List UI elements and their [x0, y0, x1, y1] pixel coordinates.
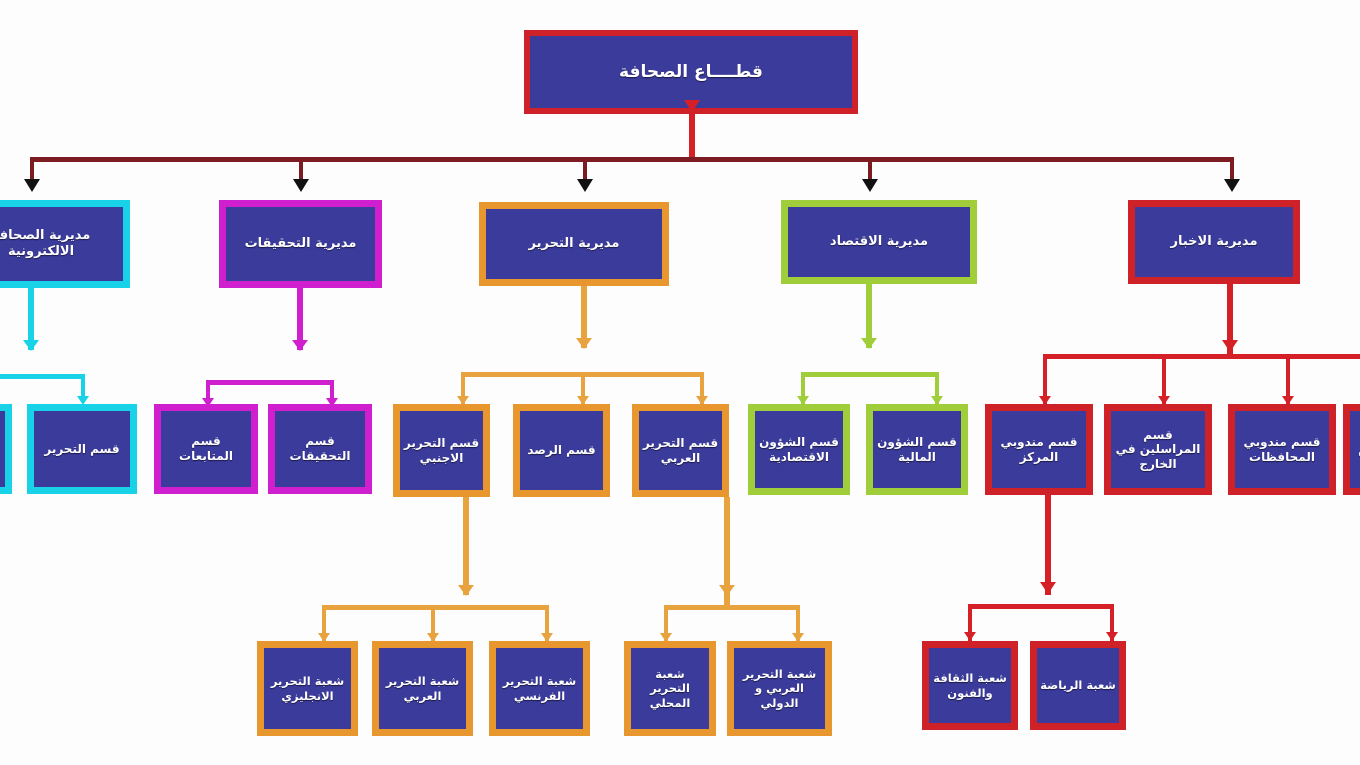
- connector-main-bus: [30, 157, 1234, 162]
- arrowhead-investigations: [293, 179, 309, 192]
- arrowhead-arabic-editing-stem: [719, 585, 735, 596]
- node-directorate-investigations[interactable]: مديرية التحقيقات: [219, 200, 382, 288]
- node-department-investigations-0[interactable]: قسم المتابعات: [154, 404, 258, 494]
- node-division-arabic-0[interactable]: شعبة التحرير المحلي: [624, 641, 716, 736]
- node-division-arabic-1[interactable]: شعبة التحرير العربي و الدولي: [727, 641, 832, 736]
- node-department-investigations-0-label: قسم المتابعات: [164, 434, 248, 463]
- node-directorate-news-label: مديرية الاخبار: [1138, 234, 1290, 250]
- arrowhead-center-division-0: [964, 632, 976, 641]
- node-department-economy-1[interactable]: قسم الشؤون المالية: [866, 404, 968, 495]
- org-chart-canvas: قطــــاع الصحافة مديرية الصحافة الالكترو…: [0, 0, 1360, 765]
- node-department-news-1-label: قسم المراسلين في الخارج: [1114, 428, 1202, 472]
- node-root-label: قطــــاع الصحافة: [533, 62, 849, 83]
- node-directorate-electronic-label: مديرية الصحافة الالكترونية: [0, 228, 120, 260]
- node-division-foreign-1-label: شعبة التحرير العربي: [382, 674, 463, 702]
- node-department-news-2[interactable]: قسم مندوبي المحافظات: [1228, 404, 1336, 495]
- node-department-electronic-1-label: قسم التحرير: [37, 442, 127, 457]
- connector-news-bus: [1043, 354, 1360, 359]
- arrowhead-electronic: [24, 179, 40, 192]
- node-directorate-editing[interactable]: مديرية التحرير: [479, 202, 669, 286]
- node-division-center-0-label: شعبة الثقافة والفنون: [932, 671, 1008, 699]
- arrowhead-editing-stem: [576, 338, 592, 349]
- node-department-editing-1-label: قسم الرصد: [523, 443, 600, 458]
- arrowhead-center-delegates-stem: [1040, 582, 1056, 594]
- arrowhead-center-division-1: [1106, 632, 1118, 641]
- node-department-economy-1-label: قسم الشؤون المالية: [876, 435, 958, 464]
- node-department-news-3[interactable]: قسم: [1343, 404, 1360, 495]
- node-division-foreign-1[interactable]: شعبة التحرير العربي: [372, 641, 473, 736]
- node-department-news-3-label: قسم: [1353, 442, 1360, 457]
- node-department-editing-0[interactable]: قسم التحرير الاجنبي: [393, 404, 490, 497]
- node-division-arabic-0-label: شعبة التحرير المحلي: [634, 667, 706, 709]
- node-department-electronic-0[interactable]: قسم: [0, 404, 12, 494]
- arrowhead-economy: [862, 179, 878, 192]
- node-department-news-1[interactable]: قسم المراسلين في الخارج: [1104, 404, 1212, 495]
- connector-arabic-editing-bus: [664, 605, 800, 610]
- node-department-editing-1[interactable]: قسم الرصد: [513, 404, 610, 497]
- node-directorate-economy[interactable]: مديرية الاقتصاد: [781, 200, 977, 284]
- node-directorate-economy-label: مديرية الاقتصاد: [791, 234, 967, 250]
- connector-investigations-bus: [206, 380, 334, 385]
- node-division-center-1[interactable]: شعبة الرياضة: [1030, 641, 1126, 730]
- connector-foreign-editing-bus: [322, 605, 549, 610]
- node-department-electronic-0-label: قسم: [0, 442, 2, 457]
- node-division-foreign-0-label: شعبة التحرير الانجليزي: [267, 674, 348, 702]
- connector-economy-bus: [801, 372, 939, 377]
- arrowhead-investigations-stem: [292, 340, 308, 351]
- node-directorate-electronic[interactable]: مديرية الصحافة الالكترونية: [0, 200, 130, 288]
- node-department-news-0[interactable]: قسم مندوبي المركز: [985, 404, 1093, 495]
- arrowhead-editing: [577, 179, 593, 192]
- connector-center-delegates-bus: [968, 604, 1114, 609]
- node-division-foreign-2[interactable]: شعبة التحرير الفرنسي: [489, 641, 590, 736]
- node-department-news-2-label: قسم مندوبي المحافظات: [1238, 435, 1326, 464]
- connector-electronic-bus: [0, 374, 85, 379]
- arrowhead-economy-stem: [861, 338, 877, 349]
- node-directorate-editing-label: مديرية التحرير: [489, 236, 659, 252]
- arrowhead-news: [1224, 179, 1240, 192]
- connector-foreign-editing-stem: [463, 497, 469, 595]
- node-division-foreign-0[interactable]: شعبة التحرير الانجليزي: [257, 641, 358, 736]
- node-division-center-0[interactable]: شعبة الثقافة والفنون: [922, 641, 1018, 730]
- node-department-investigations-1[interactable]: قسم التحقيقات: [268, 404, 372, 494]
- arrowhead-foreign-editing-stem: [458, 585, 474, 596]
- node-department-editing-2[interactable]: قسم التحرير العربي: [632, 404, 729, 497]
- node-department-editing-2-label: قسم التحرير العربي: [642, 436, 719, 465]
- arrowhead-electronic-stem: [23, 340, 39, 351]
- arrowhead-root-stem: [684, 100, 700, 112]
- arrowhead-news-stem: [1222, 340, 1238, 352]
- node-department-editing-0-label: قسم التحرير الاجنبي: [403, 436, 480, 465]
- connector-center-delegates-stem: [1045, 495, 1051, 595]
- node-department-news-0-label: قسم مندوبي المركز: [995, 435, 1083, 464]
- node-division-arabic-1-label: شعبة التحرير العربي و الدولي: [737, 667, 822, 709]
- node-directorate-investigations-label: مديرية التحقيقات: [229, 236, 372, 252]
- connector-root-stem: [689, 114, 695, 158]
- node-department-economy-0-label: قسم الشؤون الاقتصادية: [758, 435, 840, 464]
- node-directorate-news[interactable]: مديرية الاخبار: [1128, 200, 1300, 284]
- node-department-electronic-1[interactable]: قسم التحرير: [27, 404, 137, 494]
- node-division-center-1-label: شعبة الرياضة: [1040, 678, 1116, 692]
- node-department-economy-0[interactable]: قسم الشؤون الاقتصادية: [748, 404, 850, 495]
- node-department-investigations-1-label: قسم التحقيقات: [278, 434, 362, 463]
- node-division-foreign-2-label: شعبة التحرير الفرنسي: [499, 674, 580, 702]
